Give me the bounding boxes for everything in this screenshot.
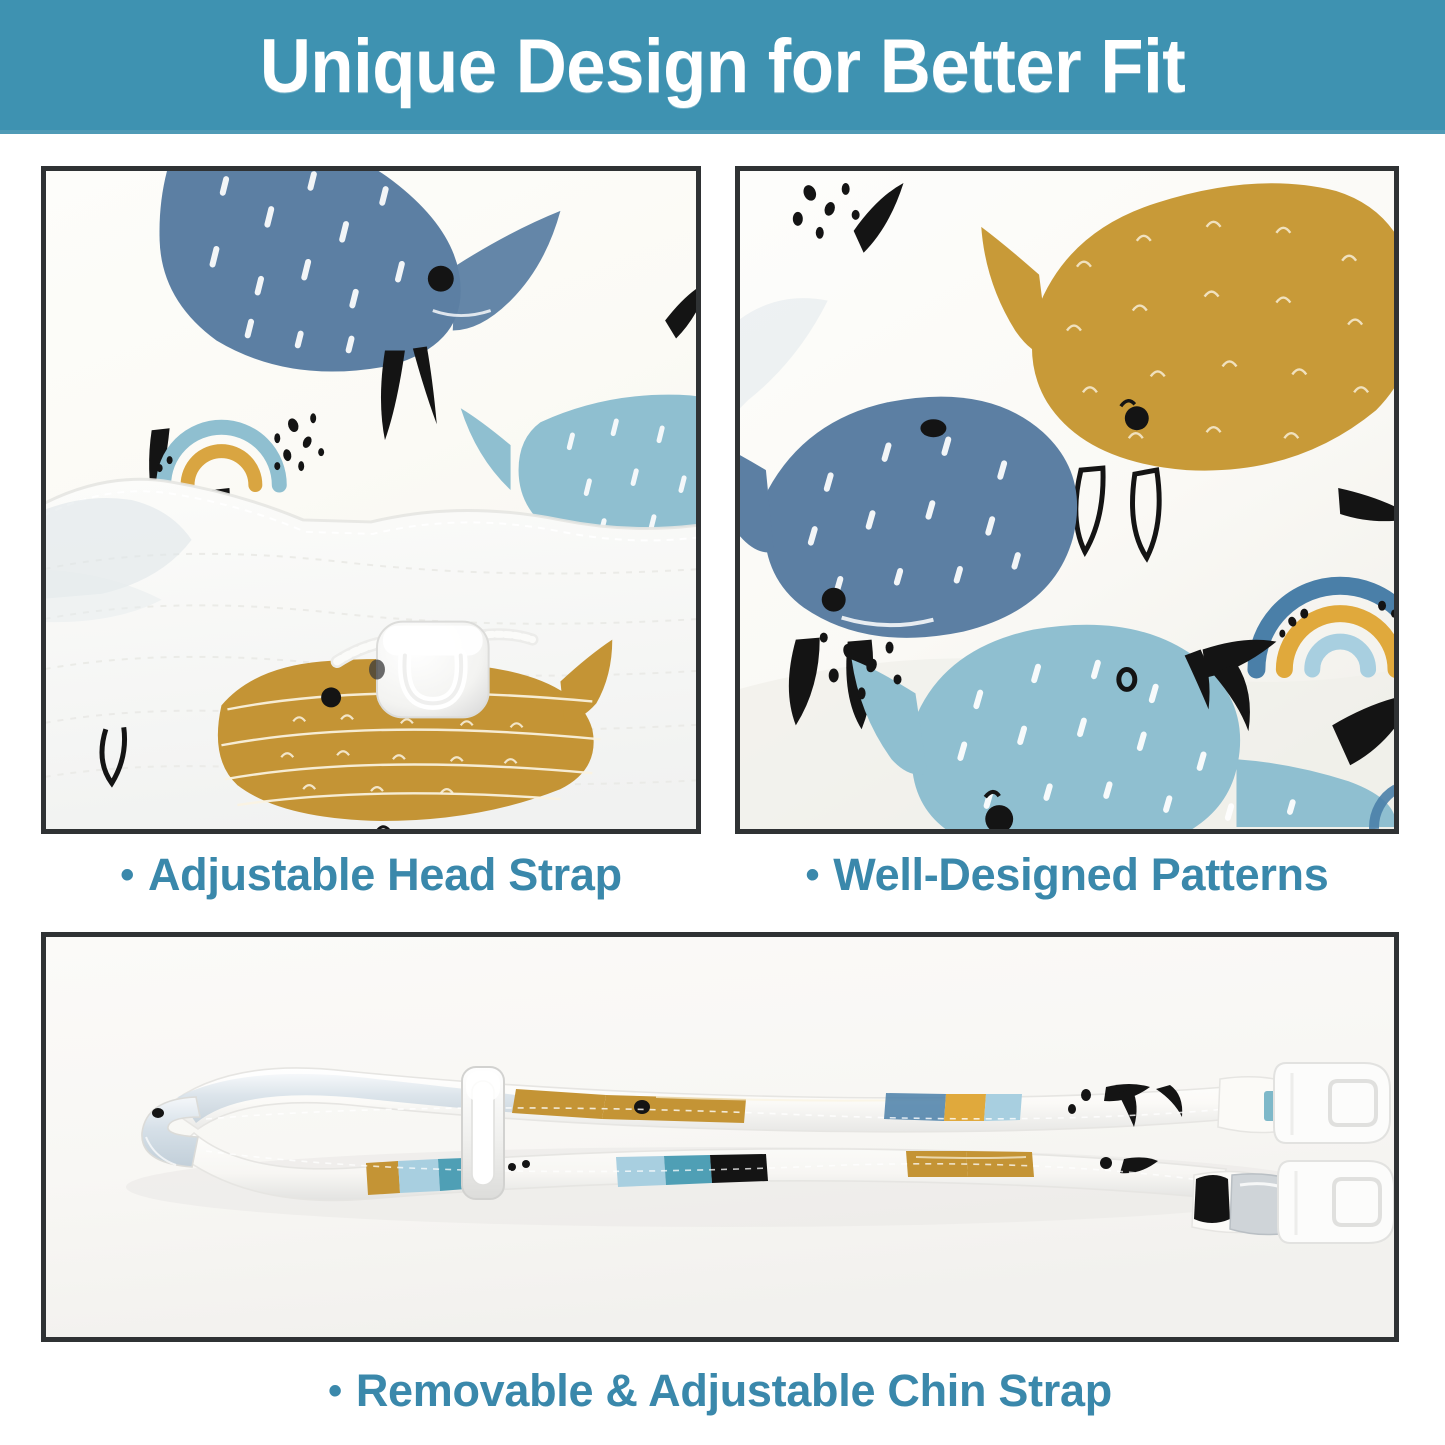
- panel-patterns: [735, 166, 1399, 834]
- patterns-photo: [740, 171, 1394, 829]
- hook-clip-lower: [1192, 1161, 1394, 1243]
- bullet-icon: •: [806, 853, 820, 897]
- caption-patterns: •Well-Designed Patterns: [735, 852, 1399, 897]
- header-band: Unique Design for Better Fit: [0, 0, 1445, 134]
- slider-buckle: [462, 1067, 504, 1199]
- head-strap-photo: [46, 171, 696, 829]
- caption-chin-strap: •Removable & Adjustable Chin Strap: [41, 1368, 1399, 1413]
- bullet-icon: •: [120, 853, 134, 897]
- caption-head-strap: •Adjustable Head Strap: [41, 852, 701, 897]
- chin-strap-photo: [46, 937, 1394, 1337]
- caption-chin-strap-label: Removable & Adjustable Chin Strap: [356, 1365, 1112, 1416]
- panel-chin-strap: [41, 932, 1399, 1342]
- page-title: Unique Design for Better Fit: [260, 29, 1185, 105]
- bullet-icon: •: [328, 1369, 342, 1413]
- caption-patterns-label: Well-Designed Patterns: [833, 849, 1328, 900]
- caption-head-strap-label: Adjustable Head Strap: [148, 849, 622, 900]
- panel-head-strap: [41, 166, 701, 834]
- infographic-page: Unique Design for Better Fit: [0, 0, 1445, 1445]
